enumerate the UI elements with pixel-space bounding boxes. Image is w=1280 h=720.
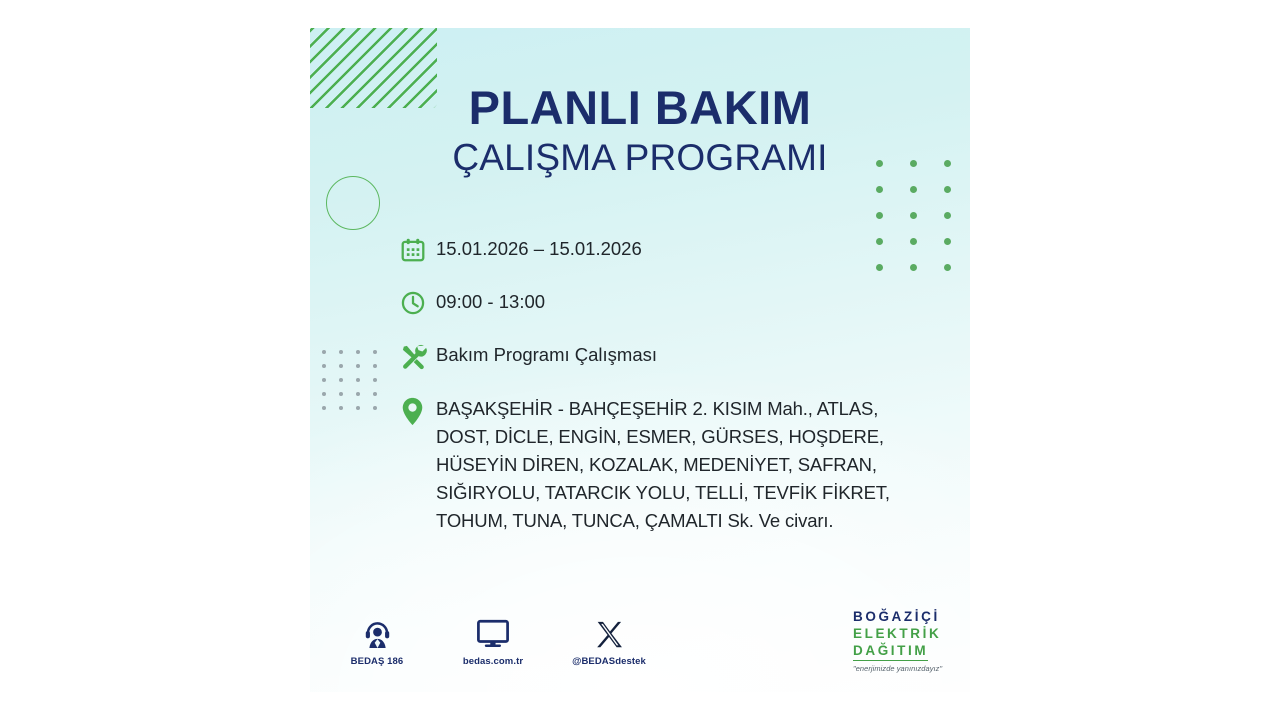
contact-label: @BEDASdestek: [570, 656, 648, 667]
date-range-text: 15.01.2026 – 15.01.2026: [436, 236, 642, 259]
address-line: HÜSEYİN DİREN, KOZALAK, MEDENİYET, SAFRA…: [436, 451, 890, 479]
work-type-text: Bakım Programı Çalışması: [436, 342, 657, 365]
address-line: BAŞAKŞEHİR - BAHÇEŞEHİR 2. KISIM Mah., A…: [436, 395, 890, 423]
contact-call-center[interactable]: BEDAŞ 186: [338, 613, 416, 667]
footer-contacts: BEDAŞ 186 bedas.com.tr @BEDASdestek: [338, 613, 648, 667]
clock-icon: [400, 289, 436, 320]
dot-grid-decoration-left: [322, 350, 390, 420]
tools-icon: [400, 342, 436, 373]
contact-label: BEDAŞ 186: [338, 656, 416, 667]
info-row-time: 09:00 - 13:00: [400, 289, 930, 320]
monitor-icon: [454, 613, 532, 649]
info-list: 15.01.2026 – 15.01.2026 09:00 - 13:00 Ba…: [400, 236, 930, 535]
contact-website[interactable]: bedas.com.tr: [454, 613, 532, 667]
address-line: SIĞIRYOLU, TATARCIK YOLU, TELLİ, TEVFİK …: [436, 479, 890, 507]
contact-x-twitter[interactable]: @BEDASdestek: [570, 613, 648, 667]
bedas-logo: BOĞAZİÇİ ELEKTRİK DAĞITIM "enerjimizde y…: [853, 608, 965, 673]
x-twitter-icon: [570, 613, 648, 649]
time-range-text: 09:00 - 13:00: [436, 289, 545, 312]
info-row-worktype: Bakım Programı Çalışması: [400, 342, 930, 373]
calendar-icon: [400, 236, 436, 267]
page-subtitle: ÇALIŞMA PROGRAMI: [310, 137, 970, 180]
headset-support-icon: [338, 613, 416, 649]
brand-line-elektrik: ELEKTRİK: [853, 625, 965, 642]
circle-outline-decoration: [326, 176, 380, 230]
poster-heading: PLANLI BAKIM ÇALIŞMA PROGRAMI: [310, 84, 970, 180]
location-pin-icon: [400, 395, 436, 427]
brand-line-bogazici: BOĞAZİÇİ: [853, 608, 965, 625]
address-line: DOST, DİCLE, ENGİN, ESMER, GÜRSES, HOŞDE…: [436, 423, 890, 451]
page-title: PLANLI BAKIM: [310, 84, 970, 133]
address-text: BAŞAKŞEHİR - BAHÇEŞEHİR 2. KISIM Mah., A…: [436, 395, 890, 535]
brand-line-dagitim: DAĞITIM: [853, 642, 928, 661]
contact-label: bedas.com.tr: [454, 656, 532, 667]
info-row-address: BAŞAKŞEHİR - BAHÇEŞEHİR 2. KISIM Mah., A…: [400, 395, 930, 535]
address-line: TOHUM, TUNA, TUNCA, ÇAMALTI Sk. Ve civar…: [436, 507, 890, 535]
maintenance-notice-poster: PLANLI BAKIM ÇALIŞMA PROGRAMI 15.01.2026…: [310, 28, 970, 692]
brand-tagline: "enerjimizde yanınızdayız": [853, 664, 965, 673]
info-row-date: 15.01.2026 – 15.01.2026: [400, 236, 930, 267]
